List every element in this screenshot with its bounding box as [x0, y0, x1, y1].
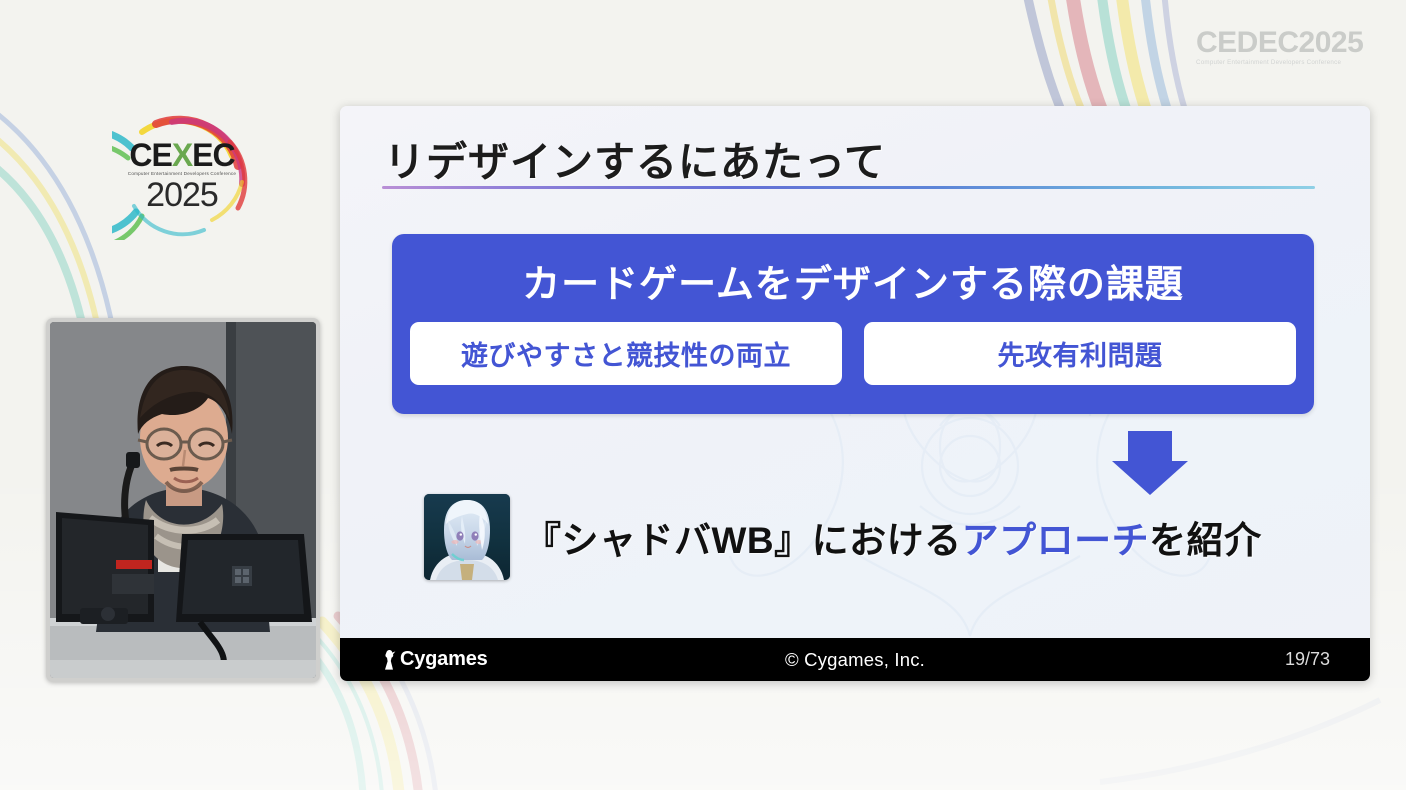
conclusion-row: 『シャドバWB』におけるアプローチを紹介	[424, 491, 1284, 583]
cedec-logo-brand-right: EC	[192, 137, 234, 173]
slide-footer: Cygames © Cygames, Inc. 19/73	[340, 638, 1370, 681]
speaker-video-frame	[50, 322, 316, 678]
down-arrow-head	[1112, 461, 1188, 495]
cedec-logo: CEXEC Computer Entertainment Developers …	[112, 112, 252, 240]
presentation-slide: リデザインするにあたって SHADOWVERSE	[340, 106, 1370, 681]
character-portrait-image	[424, 494, 510, 580]
down-arrow-shaft	[1128, 431, 1172, 461]
stream-canvas: CEDEC2025 Computer Entertainment Develop…	[0, 0, 1406, 790]
copyright-notice: © Cygames, Inc.	[340, 649, 1370, 671]
cedec-logo-wordmark: CEXEC	[129, 140, 234, 170]
cedec-watermark-year: 2025	[1299, 26, 1364, 59]
conclusion-text-highlight: アプローチ	[962, 520, 1150, 561]
page-number: 19/73	[1285, 649, 1330, 670]
challenges-pill-row: 遊びやすさと競技性の両立 先攻有利問題	[392, 308, 1314, 385]
cedec-logo-brand-left: CE	[129, 137, 171, 173]
challenges-panel: カードゲームをデザインする際の課題 遊びやすさと競技性の両立 先攻有利問題	[392, 234, 1314, 414]
cedec-logo-year: 2025	[146, 178, 218, 212]
conclusion-text-before: 『シャドバWB』における	[524, 520, 962, 561]
challenges-panel-heading: カードゲームをデザインする際の課題	[392, 234, 1314, 308]
challenge-pill-2: 先攻有利問題	[864, 322, 1296, 385]
challenge-pill-1: 遊びやすさと競技性の両立	[410, 322, 842, 385]
conclusion-text-after: を紹介	[1149, 520, 1262, 561]
cedec-watermark: CEDEC2025 Computer Entertainment Develop…	[1196, 28, 1372, 72]
speaker-video-image	[50, 322, 316, 678]
cedec-watermark-subtitle: Computer Entertainment Developers Confer…	[1196, 59, 1372, 66]
conclusion-text: 『シャドバWB』におけるアプローチを紹介	[524, 510, 1262, 564]
cedec-watermark-brand: CEDEC	[1196, 26, 1299, 59]
cedec-watermark-wordmark: CEDEC2025	[1196, 28, 1372, 58]
character-portrait	[424, 494, 510, 580]
title-underline-rule	[382, 186, 1315, 189]
cedec-logo-x-glyph: X	[172, 137, 192, 173]
slide-body: リデザインするにあたって SHADOWVERSE	[340, 106, 1370, 638]
speaker-video-feed	[46, 318, 320, 682]
slide-title: リデザインするにあたって	[384, 128, 886, 188]
